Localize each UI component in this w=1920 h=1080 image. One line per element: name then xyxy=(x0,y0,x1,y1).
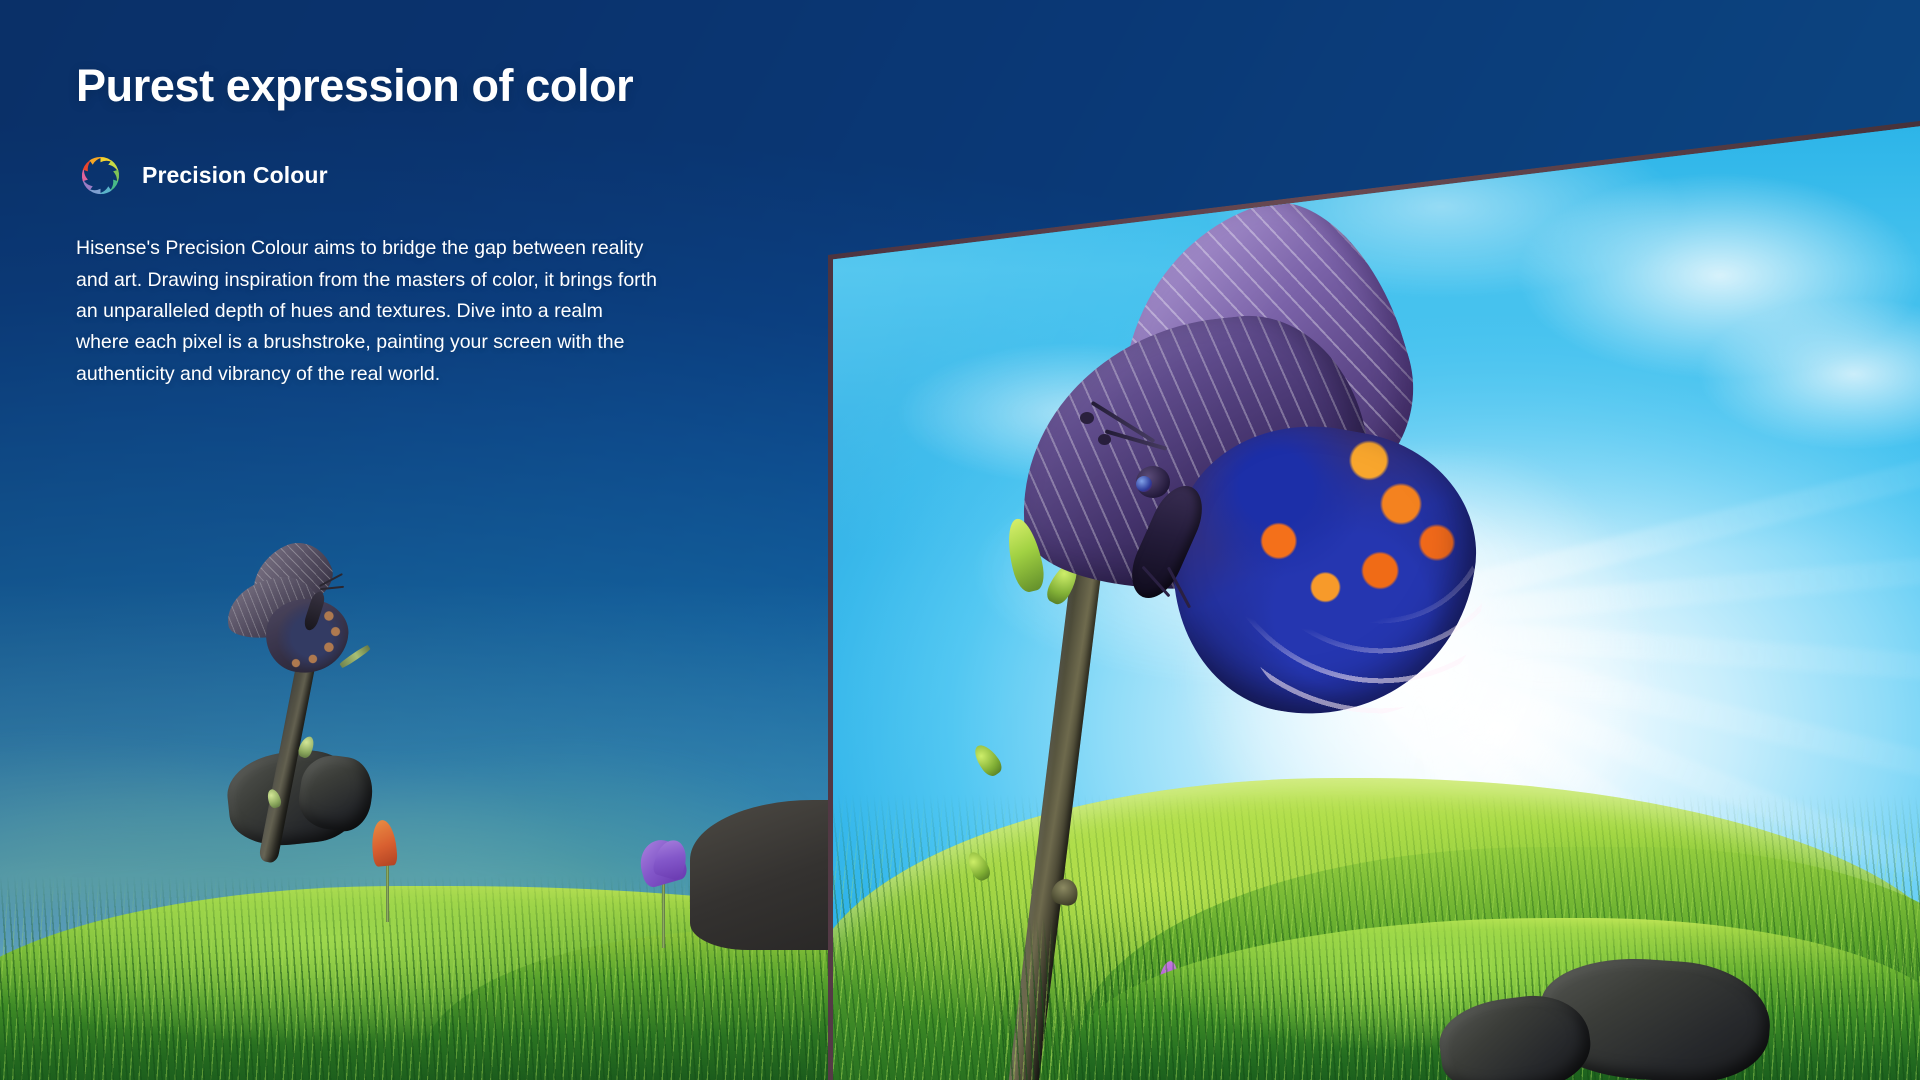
butterfly-inside-antenna-left-club xyxy=(1080,412,1094,424)
precision-colour-swirl-icon xyxy=(76,151,125,200)
page-title: Purest expression of color xyxy=(76,62,676,109)
brand-label: Precision Colour xyxy=(142,162,328,189)
hero-copy-block: Purest expression of color xyxy=(76,62,676,390)
body-paragraph: Hisense's Precision Colour aims to bridg… xyxy=(76,233,661,390)
butterfly-outside xyxy=(222,547,362,682)
product-hero-scene: Purest expression of color xyxy=(0,0,1920,1080)
brand-row: Precision Colour xyxy=(76,151,676,200)
butterfly-inside-eye xyxy=(1136,476,1152,492)
butterfly-inside xyxy=(958,214,1518,774)
butterfly-inside-antenna-right-club xyxy=(1098,434,1111,445)
